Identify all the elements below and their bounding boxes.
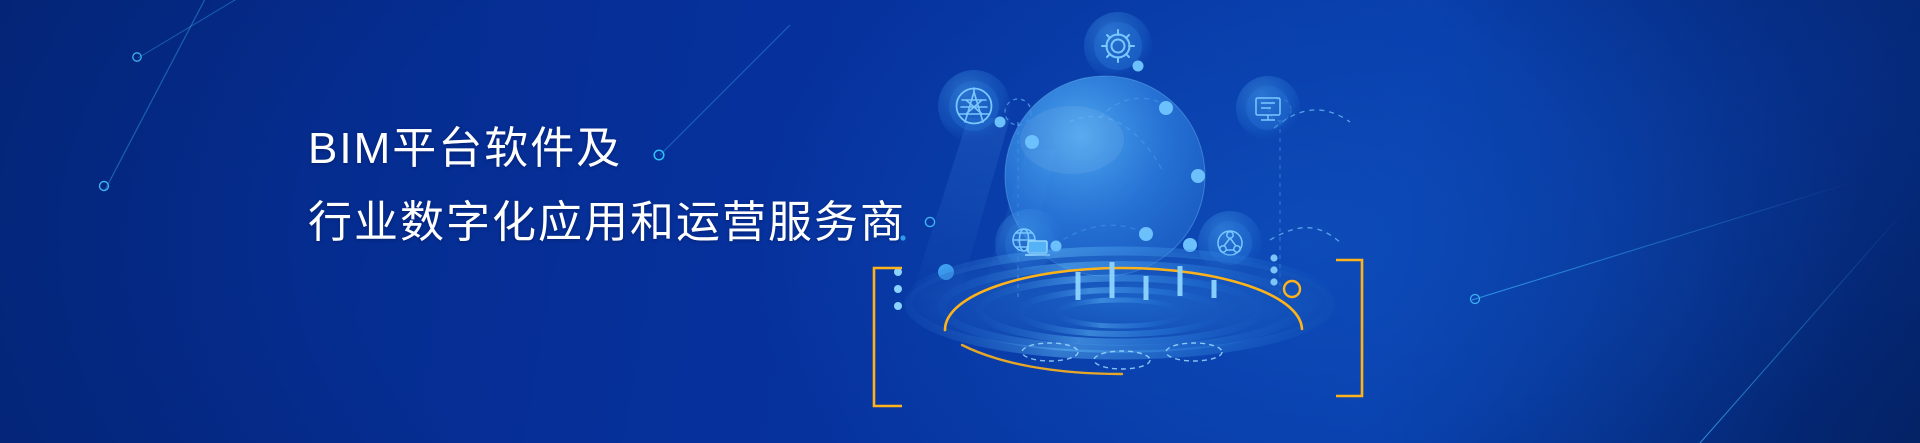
hero-banner: BIM平台软件及 行业数字化应用和运营服务商 xyxy=(0,0,1920,443)
node-power-tower[interactable] xyxy=(938,70,1010,142)
bim-illustration: BIM xyxy=(850,0,1450,443)
node-monitor[interactable] xyxy=(1236,76,1300,140)
dot-column-right xyxy=(1270,254,1277,285)
node-gear[interactable] xyxy=(1084,12,1152,80)
banner-headline: BIM平台软件及 行业数字化应用和运营服务商 xyxy=(308,112,906,260)
dot-column xyxy=(894,268,902,310)
headline-line-2: 行业数字化应用和运营服务商 xyxy=(308,186,906,260)
headline-line-1: BIM平台软件及 xyxy=(308,112,906,186)
bracket-right xyxy=(1336,260,1362,396)
